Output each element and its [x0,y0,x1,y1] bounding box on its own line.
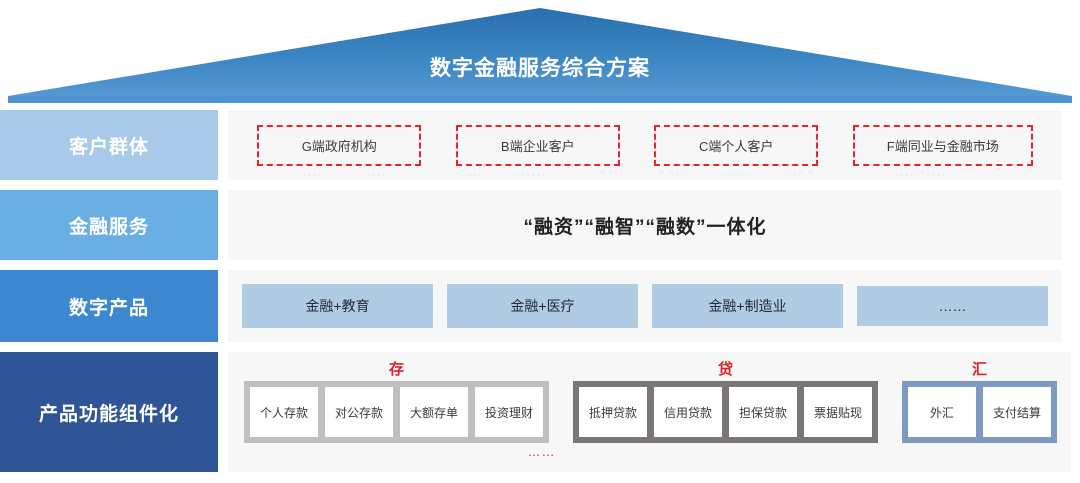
function-group-deposit: 存 个人存款 对公存款 大额存单 投资理财 [244,362,549,443]
function-item[interactable]: 大额存单 [400,387,468,437]
customer-group-list: G端政府机构 B端企业客户 C端个人客户 F端同业与金融市场 [228,125,1062,166]
function-group-list: 存 个人存款 对公存款 大额存单 投资理财 贷 抵押贷款 信用 [242,352,1057,443]
customer-group-item[interactable]: C端个人客户 [654,125,818,166]
function-group-box: 个人存款 对公存款 大额存单 投资理财 [244,381,549,443]
function-item[interactable]: 票据贴现 [804,387,872,437]
digital-product-item[interactable]: 金融+教育 [242,284,433,328]
function-item[interactable]: 个人存款 [250,387,318,437]
diagram-canvas: 数字金融服务综合方案 客户群体 G端政府机构 B端企业客户 C端个人客户 F端同… [0,0,1080,483]
row-content-customer-groups: G端政府机构 B端企业客户 C端个人客户 F端同业与金融市场 [228,110,1062,180]
function-group-box: 外汇 支付结算 [902,381,1057,443]
function-item[interactable]: 信用贷款 [654,387,722,437]
function-item[interactable]: 对公存款 [325,387,393,437]
function-item[interactable]: 投资理财 [475,387,543,437]
function-item[interactable]: 担保贷款 [729,387,797,437]
row-content-financial-services: “融资”“融智”“融数”一体化 [228,190,1062,260]
digital-product-item[interactable]: 金融+医疗 [447,284,638,328]
digital-product-item-more[interactable]: …… [857,286,1048,326]
function-group-loan: 贷 抵押贷款 信用贷款 担保贷款 票据贴现 [573,362,878,443]
row-label-customer-groups: 客户群体 [0,110,218,180]
row-financial-services: 金融服务 “融资”“融智”“融数”一体化 [0,190,1080,260]
function-group-remittance: 汇 外汇 支付结算 [902,362,1057,443]
customer-group-item[interactable]: B端企业客户 [456,125,620,166]
function-item[interactable]: 抵押贷款 [579,387,647,437]
row-spacer [218,190,228,260]
function-group-title: 汇 [972,362,987,378]
function-item[interactable]: 支付结算 [983,387,1051,437]
function-item[interactable]: 外汇 [908,387,976,437]
row-label-digital-products: 数字产品 [0,270,218,342]
row-content-digital-products: 金融+教育 金融+医疗 金融+制造业 …… [228,270,1062,342]
row-product-function-components: 产品功能组件化 存 个人存款 对公存款 大额存单 投资理财 [0,352,1080,472]
function-group-title: 贷 [718,362,733,378]
digital-product-list: 金融+教育 金融+医疗 金融+制造业 …… [228,284,1062,328]
customer-group-item[interactable]: G端政府机构 [257,125,421,166]
function-group-ellipsis: …… [120,444,963,459]
row-content-product-function-components: 存 个人存款 对公存款 大额存单 投资理财 贷 抵押贷款 信用 [228,352,1071,472]
function-group-box: 抵押贷款 信用贷款 担保贷款 票据贴现 [573,381,878,443]
customer-group-item[interactable]: F端同业与金融市场 [853,125,1033,166]
row-spacer [218,110,228,180]
financial-services-statement: “融资”“融智”“融数”一体化 [228,212,1062,239]
row-spacer [218,270,228,342]
function-group-area: 存 个人存款 对公存款 大额存单 投资理财 贷 抵押贷款 信用 [228,352,1071,472]
roof-shape: 数字金融服务综合方案 [0,0,1080,104]
digital-product-item[interactable]: 金融+制造业 [652,284,843,328]
function-group-title: 存 [389,362,404,378]
row-label-financial-services: 金融服务 [0,190,218,260]
row-customer-groups: 客户群体 G端政府机构 B端企业客户 C端个人客户 F端同业与金融市场 [0,110,1080,180]
row-digital-products: 数字产品 金融+教育 金融+医疗 金融+制造业 …… [0,270,1080,342]
